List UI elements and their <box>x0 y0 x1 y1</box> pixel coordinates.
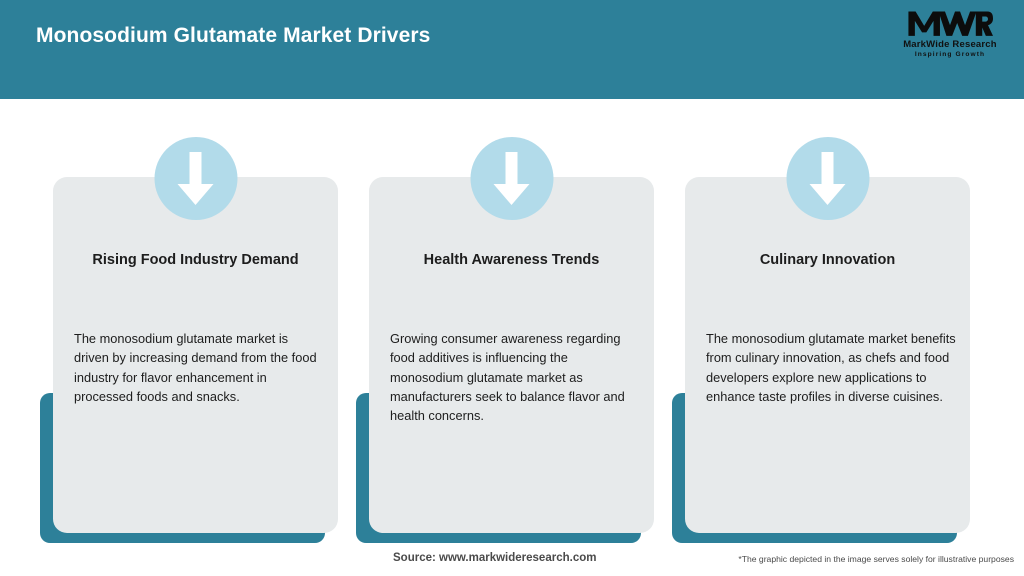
brand-logo: MarkWide Research Inspiring Growth <box>894 8 1006 64</box>
mwr-logo-icon <box>907 8 993 38</box>
card-title: Health Awareness Trends <box>377 251 646 269</box>
arrow-glyph <box>808 152 848 206</box>
card-panel: Rising Food Industry Demand The monosodi… <box>53 177 338 533</box>
card-title: Rising Food Industry Demand <box>61 251 330 269</box>
driver-card-3: Culinary Innovation The monosodium gluta… <box>672 177 970 543</box>
card-body-text: Growing consumer awareness regarding foo… <box>390 329 640 425</box>
arrow-glyph <box>492 152 532 206</box>
card-panel: Culinary Innovation The monosodium gluta… <box>685 177 970 533</box>
header-bar: Monosodium Glutamate Market Drivers Mark… <box>0 0 1024 99</box>
driver-card-2: Health Awareness Trends Growing consumer… <box>356 177 654 543</box>
page-title: Monosodium Glutamate Market Drivers <box>36 24 430 48</box>
card-title: Culinary Innovation <box>693 251 962 269</box>
card-body-text: The monosodium glutamate market is drive… <box>74 329 324 406</box>
disclaimer-label: *The graphic depicted in the image serve… <box>738 554 1014 564</box>
down-arrow-icon <box>154 137 237 220</box>
card-body-text: The monosodium glutamate market benefits… <box>706 329 956 406</box>
arrow-glyph <box>176 152 216 206</box>
down-arrow-icon <box>470 137 553 220</box>
driver-card-1: Rising Food Industry Demand The monosodi… <box>40 177 338 543</box>
logo-company-name: MarkWide Research <box>894 39 1006 50</box>
source-label: Source: www.markwideresearch.com <box>393 552 596 564</box>
logo-tagline: Inspiring Growth <box>894 50 1006 59</box>
down-arrow-icon <box>786 137 869 220</box>
card-panel: Health Awareness Trends Growing consumer… <box>369 177 654 533</box>
